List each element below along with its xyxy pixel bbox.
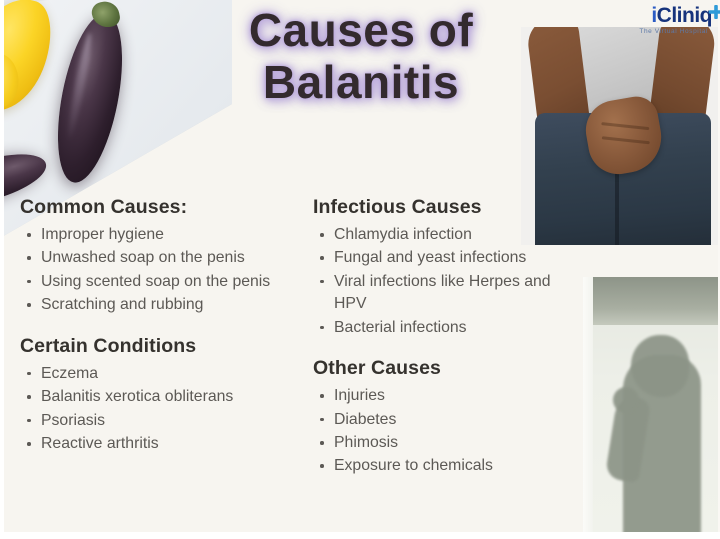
section-heading-common-causes: Common Causes: <box>20 196 304 219</box>
logo-tagline: The Virtual Hospital <box>639 29 712 36</box>
list-item: Diabetes <box>313 409 563 431</box>
right-content-column: Infectious Causes Chlamydia infection Fu… <box>313 196 563 479</box>
list-item: Balanitis xerotica obliterans <box>20 386 304 408</box>
list-item: Psoriasis <box>20 410 304 432</box>
page-title: Causes of Balanitis <box>196 5 526 108</box>
list-other-causes: Injuries Diabetes Phimosis Exposure to c… <box>313 385 563 478</box>
logo-letters-cliniq: Cliniq <box>657 4 712 27</box>
medical-cross-icon <box>709 2 720 16</box>
section-heading-infectious-causes: Infectious Causes <box>313 196 563 219</box>
wall-edge-highlight <box>583 277 593 532</box>
list-item: Reactive arthritis <box>20 433 304 455</box>
list-item: Chlamydia infection <box>313 224 563 246</box>
section-heading-other-causes: Other Causes <box>313 357 563 380</box>
title-line-1: Causes of <box>196 5 526 57</box>
silhouette-head-shape <box>631 335 689 397</box>
list-item: Exposure to chemicals <box>313 455 563 477</box>
list-common-causes: Improper hygiene Unwashed soap on the pe… <box>20 224 304 317</box>
list-item: Injuries <box>313 385 563 407</box>
ceiling-band <box>583 277 718 325</box>
logo-wordmark: iCliniq <box>651 5 712 26</box>
list-infectious-causes: Chlamydia infection Fungal and yeast inf… <box>313 224 563 339</box>
list-item: Unwashed soap on the penis <box>20 247 304 269</box>
silhouette-photo <box>583 277 718 532</box>
list-item: Phimosis <box>313 432 563 454</box>
list-item: Fungal and yeast infections <box>313 247 563 269</box>
left-content-column: Common Causes: Improper hygiene Unwashed… <box>20 196 304 456</box>
infographic-canvas: iCliniq The Virtual Hospital Causes of B… <box>0 0 720 539</box>
list-item: Bacterial infections <box>313 317 563 339</box>
silhouette-hand-shape <box>613 387 639 413</box>
list-certain-conditions: Eczema Balanitis xerotica obliterans Pso… <box>20 363 304 456</box>
iclinic-logo[interactable]: iCliniq The Virtual Hospital <box>639 5 712 36</box>
list-item: Viral infections like Herpes and HPV <box>313 271 563 316</box>
list-item: Improper hygiene <box>20 224 304 246</box>
list-item: Using scented soap on the penis <box>20 271 304 293</box>
list-item: Eczema <box>20 363 304 385</box>
section-heading-certain-conditions: Certain Conditions <box>20 335 304 358</box>
title-line-2: Balanitis <box>196 57 526 109</box>
frame-bottom-edge <box>0 532 720 539</box>
list-item: Scratching and rubbing <box>20 294 304 316</box>
